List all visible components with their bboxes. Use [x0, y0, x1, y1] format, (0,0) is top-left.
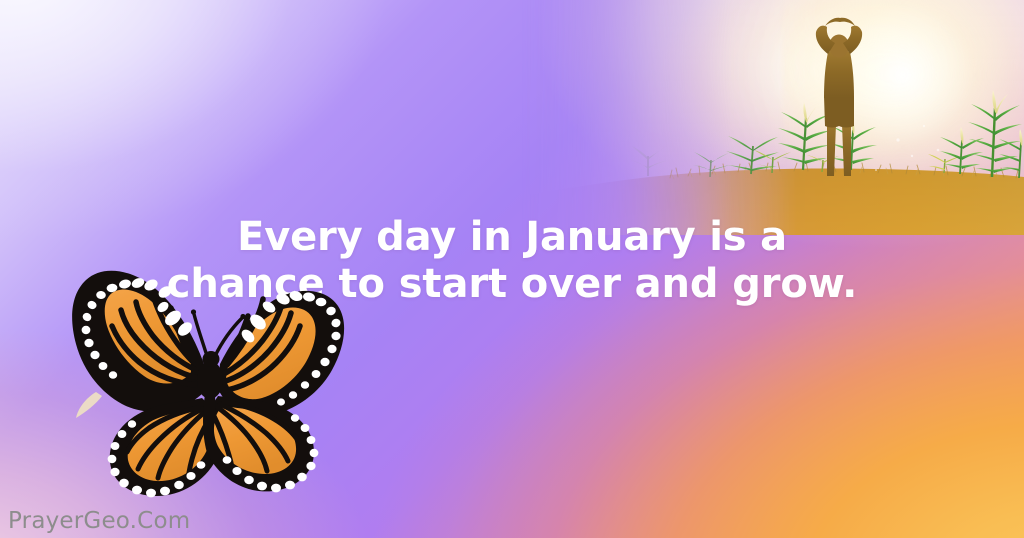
background-wing-hint: [76, 392, 102, 418]
person-arms-raised-silhouette: [816, 18, 862, 176]
corn-plant: [999, 129, 1022, 178]
sunrise-field-scene: [520, 0, 1024, 235]
corn-plant: [631, 146, 666, 176]
scene-artwork: [520, 0, 1024, 235]
butterfly-artwork: [52, 252, 364, 504]
field-ground: [520, 169, 1024, 236]
quote-card: Every day in January is a chance to star…: [0, 0, 1024, 538]
antenna-club-left: [191, 309, 196, 314]
butterfly-body-group: [72, 271, 344, 498]
antenna-club-right: [240, 314, 245, 319]
monarch-butterfly: [52, 252, 364, 504]
site-watermark: PrayerGeo.Com: [8, 508, 190, 534]
floating-seeds: [875, 125, 939, 171]
corn-plant: [968, 90, 1022, 177]
